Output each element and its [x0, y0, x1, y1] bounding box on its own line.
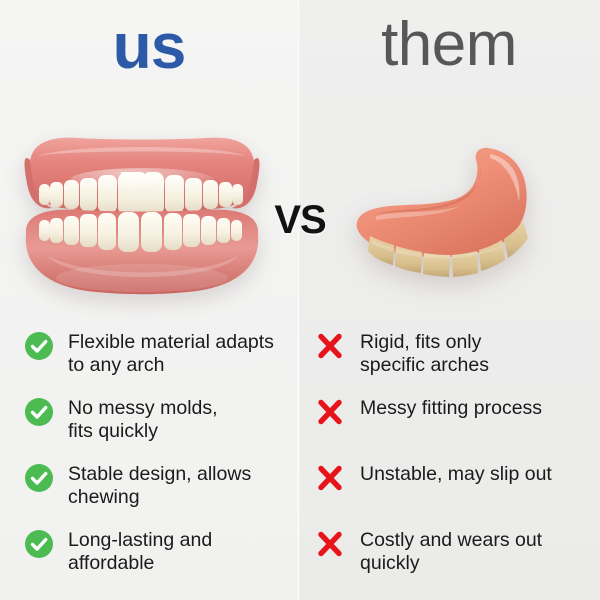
- red-x-icon: [316, 398, 344, 426]
- full-denture-set-image: [8, 128, 276, 308]
- single-arch-denture-image: [340, 136, 560, 301]
- right-product-photo: [298, 112, 600, 322]
- list-item: Rigid, fits only specific arches: [316, 330, 594, 396]
- list-item: Flexible material adapts to any arch: [24, 330, 296, 396]
- red-x-icon: [316, 530, 344, 558]
- red-x-icon: [316, 464, 344, 492]
- list-item-label: Long-lasting and affordable: [68, 528, 212, 575]
- list-item-label: Rigid, fits only specific arches: [360, 330, 489, 377]
- benefits-list: Flexible material adapts to any arch No …: [24, 330, 296, 594]
- left-panel-heading: us: [0, 14, 298, 78]
- comparison-infographic: us them: [0, 0, 600, 600]
- list-item-label: Unstable, may slip out: [360, 462, 552, 486]
- list-item: Stable design, allows chewing: [24, 462, 296, 528]
- left-product-photo: [0, 112, 298, 322]
- drawbacks-list: Rigid, fits only specific arches Messy f…: [316, 330, 594, 594]
- list-item-label: No messy molds, fits quickly: [68, 396, 218, 443]
- list-item: No messy molds, fits quickly: [24, 396, 296, 462]
- list-item: Unstable, may slip out: [316, 462, 594, 528]
- list-item-label: Stable design, allows chewing: [68, 462, 251, 509]
- red-x-icon: [316, 332, 344, 360]
- list-item-label: Messy fitting process: [360, 396, 542, 420]
- list-item: Costly and wears out quickly: [316, 528, 594, 594]
- list-item: Long-lasting and affordable: [24, 528, 296, 594]
- right-panel-heading: them: [298, 14, 600, 76]
- green-check-circle-icon: [24, 463, 54, 493]
- list-item: Messy fitting process: [316, 396, 594, 462]
- green-check-circle-icon: [24, 529, 54, 559]
- green-check-circle-icon: [24, 331, 54, 361]
- versus-label: VS: [265, 198, 335, 243]
- list-item-label: Flexible material adapts to any arch: [68, 330, 274, 377]
- green-check-circle-icon: [24, 397, 54, 427]
- list-item-label: Costly and wears out quickly: [360, 528, 542, 575]
